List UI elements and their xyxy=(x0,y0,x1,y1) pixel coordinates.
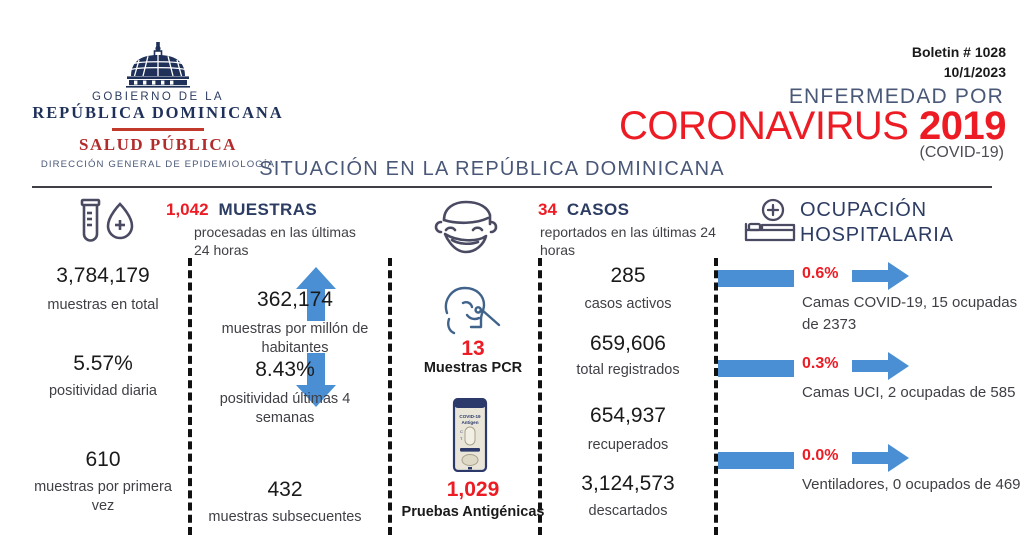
masked-face-icon xyxy=(428,198,506,261)
stat-value: 3,784,179 xyxy=(28,264,178,288)
stat-daily-positivity: 5.57% positividad diaria xyxy=(28,352,178,401)
stat-discarded: 3,124,573 descartados xyxy=(548,472,708,521)
coronavirus-word: CORONAVIRUS xyxy=(619,104,908,148)
stat-label: total registrados xyxy=(548,361,708,380)
stat-value: 432 xyxy=(205,478,365,502)
occ-title-line2: HOSPITALARIA xyxy=(800,223,954,248)
stat-label: muestras en total xyxy=(28,296,178,315)
stat-value: 659,606 xyxy=(548,332,708,356)
svg-text:C: C xyxy=(460,429,463,434)
stat-total-registered: 659,606 total registrados xyxy=(548,332,708,380)
column-divider-1 xyxy=(188,258,192,535)
stat-samples-per-million: 362,174 muestras por millón de habitante… xyxy=(205,288,385,358)
test-tube-blood-drop-icon xyxy=(70,196,142,253)
occupancy-pct-covid-beds: 0.6% xyxy=(802,265,838,283)
svg-text:COVID-19: COVID-19 xyxy=(459,414,481,419)
stat-active-cases: 285 casos activos xyxy=(548,264,708,314)
casos-headline-number: 34 xyxy=(538,200,557,220)
stat-value: 285 xyxy=(548,264,708,288)
casos-headline-title: CASOS xyxy=(567,200,629,220)
occupancy-text-icu-beds: Camas UCI, 2 ocupadas de 585 xyxy=(802,382,1022,404)
stat-value: 610 xyxy=(28,448,178,472)
dome-icon xyxy=(118,42,198,88)
nasal-swab-icon xyxy=(437,283,503,342)
stat-label: positividad últimas 4 semanas xyxy=(195,390,375,428)
occupancy-pct-icu-beds: 0.3% xyxy=(802,355,838,373)
arrow-right-icon xyxy=(852,443,910,478)
occupancy-text-covid-beds: Camas COVID-19, 15 ocupadas de 2373 xyxy=(802,292,1022,336)
stat-value: 362,174 xyxy=(205,288,385,312)
stat-value: 1,029 xyxy=(410,478,536,502)
occ-title-line1: OCUPACIÓN xyxy=(800,198,954,223)
stat-recovered: 654,937 recuperados xyxy=(548,404,708,455)
hospital-bed-icon xyxy=(742,198,798,249)
column-divider-3 xyxy=(538,258,542,535)
muestras-header: 1,042 MUESTRAS procesadas en las últimas… xyxy=(166,200,366,260)
occupancy-bar-icu-beds xyxy=(718,360,794,377)
stat-label: Pruebas Antigénicas xyxy=(390,504,556,520)
svg-text:Antigen: Antigen xyxy=(461,420,478,425)
column-divider-4 xyxy=(714,258,718,535)
muestras-headline-body: procesadas en las últimas 24 horas xyxy=(194,223,366,260)
coronavirus-year: 2019 xyxy=(919,104,1006,148)
header-divider xyxy=(32,186,992,188)
stat-label: muestras por primera vez xyxy=(28,478,178,516)
stat-label: Muestras PCR xyxy=(400,360,546,376)
casos-headline-body: reportados en las últimas 24 horas xyxy=(540,223,728,260)
stat-label: muestras subsecuentes xyxy=(205,508,365,527)
stat-first-time-samples: 610 muestras por primera vez xyxy=(28,448,178,516)
infographic-page: GOBIERNO DE LA REPÚBLICA DOMINICANA SALU… xyxy=(0,0,1024,537)
stat-label: positividad diaria xyxy=(28,382,178,401)
stat-total-samples: 3,784,179 muestras en total xyxy=(28,264,178,315)
pcr-label-block: Muestras PCR xyxy=(400,360,546,376)
logo-salud-text: SALUD PÚBLICA xyxy=(18,135,298,155)
logo-republica-text: REPÚBLICA DOMINICANA xyxy=(18,103,298,123)
coronavirus-title: CORONAVIRUS 2019 xyxy=(619,104,1006,149)
stat-label: descartados xyxy=(548,502,708,521)
situacion-subtitle: SITUACIÓN EN LA REPÚBLICA DOMINICANA xyxy=(0,158,1024,181)
stat-value: 13 xyxy=(410,337,536,361)
logo-divider xyxy=(112,128,204,131)
stat-label: casos activos xyxy=(548,295,708,314)
stat-value: 654,937 xyxy=(548,404,708,428)
bulletin-info: Boletin # 1028 10/1/2023 xyxy=(912,42,1006,83)
occupancy-text-ventilators: Ventiladores, 0 ocupados de 469 xyxy=(802,474,1022,496)
occupancy-bar-ventilators xyxy=(718,452,794,469)
logo-gobierno-text: GOBIERNO DE LA xyxy=(18,91,298,103)
antigen-value: 1,029 xyxy=(410,478,536,502)
arrow-right-icon xyxy=(852,261,910,296)
bulletin-date: 10/1/2023 xyxy=(912,62,1006,82)
ocupacion-hospitalaria-title: OCUPACIÓN HOSPITALARIA xyxy=(800,198,954,248)
stat-subsequent-samples: 432 muestras subsecuentes xyxy=(205,478,365,527)
occupancy-pct-ventilators: 0.0% xyxy=(802,447,838,465)
pcr-value: 13 xyxy=(410,337,536,361)
government-logo: GOBIERNO DE LA REPÚBLICA DOMINICANA SALU… xyxy=(18,42,298,170)
casos-header: 34 CASOS reportados en las últimas 24 ho… xyxy=(538,200,728,260)
column-divider-2 xyxy=(388,258,392,535)
antigen-test-strip-icon: COVID-19 Antigen C T xyxy=(448,398,492,477)
occupancy-bar-covid-beds xyxy=(718,270,794,287)
muestras-headline-title: MUESTRAS xyxy=(219,200,318,220)
stat-value: 3,124,573 xyxy=(548,472,708,496)
stat-value: 5.57% xyxy=(28,352,178,376)
stat-label: recuperados xyxy=(548,436,708,455)
stat-value: 8.43% xyxy=(195,358,375,382)
antigen-label-block: Pruebas Antigénicas xyxy=(390,504,556,520)
bulletin-number: Boletin # 1028 xyxy=(912,42,1006,62)
muestras-headline-number: 1,042 xyxy=(166,200,209,220)
stat-4week-positivity: 8.43% positividad últimas 4 semanas xyxy=(195,358,375,428)
arrow-right-icon xyxy=(852,351,910,386)
